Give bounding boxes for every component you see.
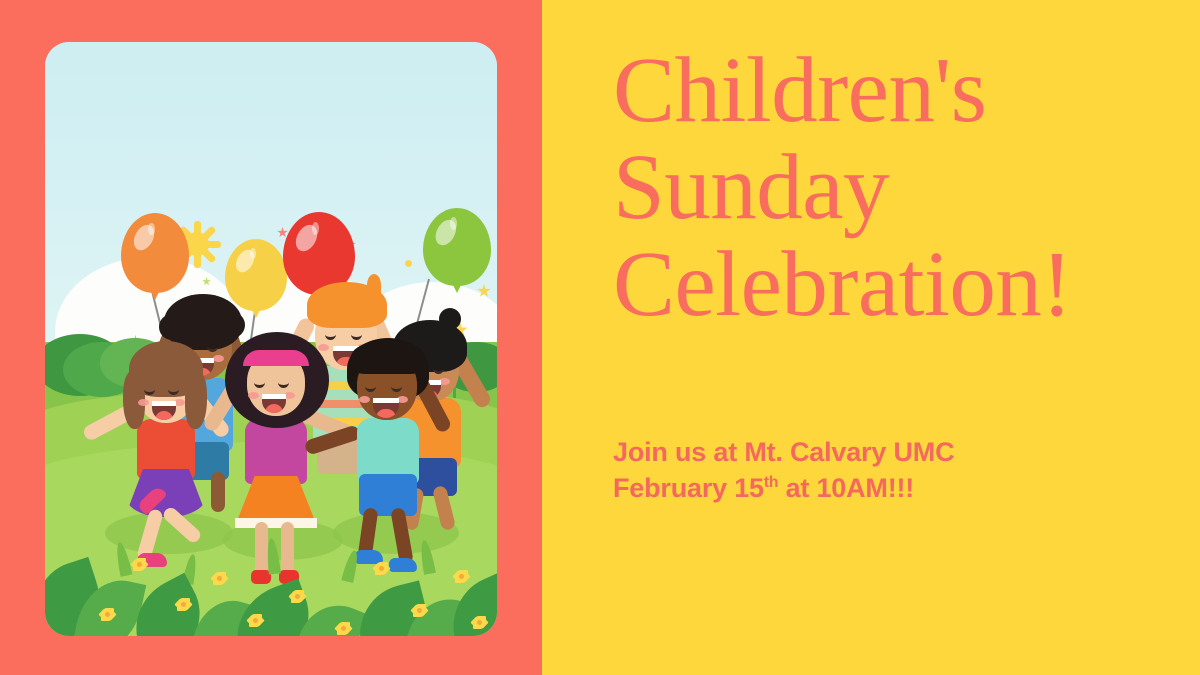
subtitle-date-ordinal: th	[764, 474, 778, 491]
headline-line-1: Children's	[613, 42, 1193, 139]
shoe	[389, 558, 417, 572]
green-balloon	[423, 208, 491, 286]
subtitle-line-datetime: February 15th at 10AM!!!	[613, 470, 1173, 506]
page-title: Children's Sunday Celebration!	[613, 42, 1193, 333]
headline-line-2: Sunday	[613, 139, 1193, 236]
flower	[455, 570, 468, 583]
subtitle-time-suffix: at 10AM!!!	[778, 473, 914, 503]
flower	[473, 616, 486, 629]
flower	[375, 562, 388, 575]
hair-front	[351, 340, 425, 374]
text-panel: Children's Sunday Celebration! Join us a…	[542, 0, 1200, 675]
headband	[243, 350, 309, 366]
poster-canvas: Children's Sunday Celebration! Join us a…	[0, 0, 1200, 675]
flower	[133, 558, 146, 571]
flower	[177, 598, 190, 611]
flower	[249, 614, 262, 627]
subtitle-date-prefix: February 15	[613, 473, 764, 503]
skirt-trim	[235, 518, 317, 528]
child-red-top	[117, 327, 237, 567]
flower	[213, 572, 226, 585]
illustration-panel	[0, 0, 542, 675]
hair-tuft	[367, 274, 381, 296]
flower	[101, 608, 114, 621]
flower	[291, 590, 304, 603]
event-details: Join us at Mt. Calvary UMC February 15th…	[613, 434, 1173, 506]
children-illustration	[45, 42, 497, 636]
subtitle-line-location: Join us at Mt. Calvary UMC	[613, 434, 1173, 470]
flower	[337, 622, 350, 635]
headline-line-3: Celebration!	[613, 236, 1193, 333]
child-mint-shirt	[337, 314, 461, 576]
flower	[413, 604, 426, 617]
